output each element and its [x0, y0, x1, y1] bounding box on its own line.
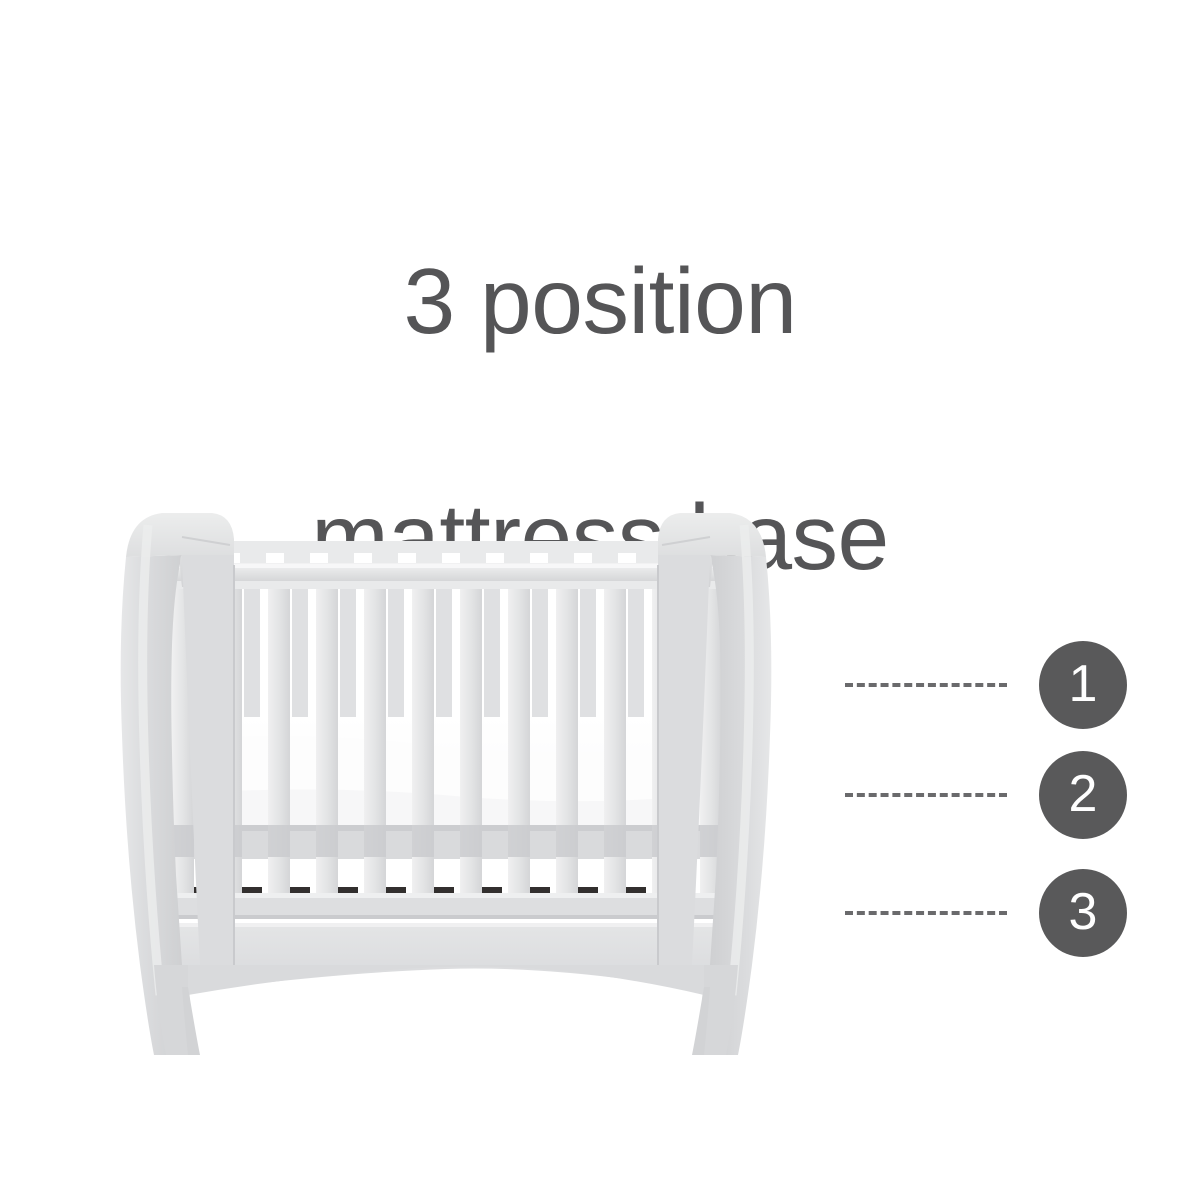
- callout-badge-2[interactable]: 2: [1039, 751, 1127, 839]
- callout-position-3[interactable]: 3: [845, 866, 1127, 960]
- cot-bed-svg: [96, 495, 796, 1065]
- product-feature-graphic: 3 position mattress base: [0, 0, 1200, 1200]
- page-title-line-1: 3 position: [0, 242, 1200, 360]
- callout-badge-1[interactable]: 1: [1039, 641, 1127, 729]
- callout-position-2[interactable]: 2: [845, 748, 1127, 842]
- callout-position-1[interactable]: 1: [845, 638, 1127, 732]
- callout-dashed-line: [845, 793, 1007, 797]
- callout-badge-3[interactable]: 3: [1039, 869, 1127, 957]
- callout-dashed-line: [845, 911, 1007, 915]
- cot-bed-illustration: [96, 495, 796, 1065]
- callout-dashed-line: [845, 683, 1007, 687]
